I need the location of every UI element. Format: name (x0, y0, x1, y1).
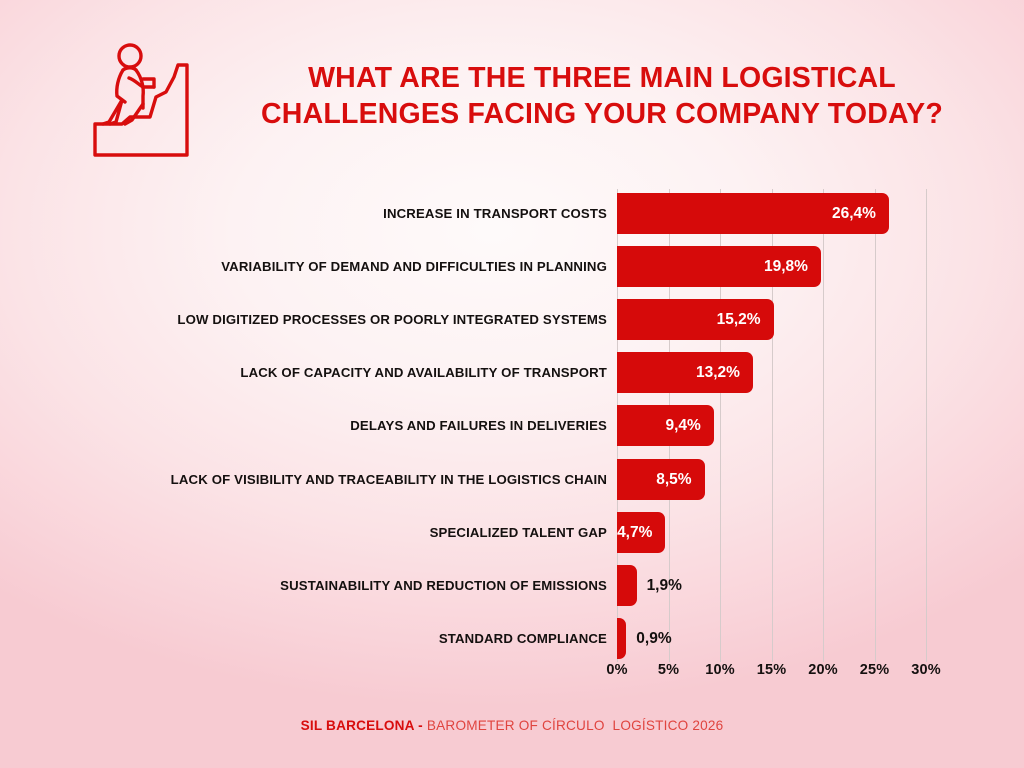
bar-row: VARIABILITY OF DEMAND AND DIFFICULTIES I… (0, 246, 1024, 287)
bar-row: LOW DIGITIZED PROCESSES OR POORLY INTEGR… (0, 299, 1024, 340)
page-title: WHAT ARE THE THREE MAIN LOGISTICAL CHALL… (232, 60, 972, 132)
bar-value-label: 8,5% (617, 459, 692, 500)
bar-value-label: 26,4% (617, 193, 876, 234)
x-axis-tick: 30% (896, 662, 956, 678)
infographic-poster: WHAT ARE THE THREE MAIN LOGISTICAL CHALL… (0, 0, 1024, 768)
title-line-2: CHALLENGES FACING YOUR COMPANY TODAY? (232, 96, 972, 132)
bar-row: STANDARD COMPLIANCE0,9% (0, 618, 1024, 659)
bar-category-label: INCREASE IN TRANSPORT COSTS (60, 193, 607, 234)
bar-category-label: SUSTAINABILITY AND REDUCTION OF EMISSION… (60, 565, 607, 606)
x-axis-tick-labels: 0%5%10%15%20%25%30% (0, 662, 1024, 690)
bar-value-label: 1,9% (647, 565, 737, 606)
bar-value-label: 15,2% (617, 299, 761, 340)
person-climbing-mountain-icon (92, 34, 192, 162)
bar-value-label: 4,7% (617, 512, 652, 553)
bar-row: SPECIALIZED TALENT GAP4,7% (0, 512, 1024, 553)
bar-category-label: STANDARD COMPLIANCE (60, 618, 607, 659)
poster-footer: SIL BARCELONA - BAROMETER OF CÍRCULO LOG… (0, 718, 1024, 733)
title-line-1: WHAT ARE THE THREE MAIN LOGISTICAL (232, 60, 972, 96)
bar-value-label: 19,8% (617, 246, 808, 287)
bar-value-label: 9,4% (617, 405, 701, 446)
bar-category-label: LACK OF CAPACITY AND AVAILABILITY OF TRA… (60, 352, 607, 393)
bar-row: LACK OF VISIBILITY AND TRACEABILITY IN T… (0, 459, 1024, 500)
bar-row: LACK OF CAPACITY AND AVAILABILITY OF TRA… (0, 352, 1024, 393)
bar-category-label: DELAYS AND FAILURES IN DELIVERIES (60, 405, 607, 446)
bar-row: INCREASE IN TRANSPORT COSTS26,4% (0, 193, 1024, 234)
poster-header: WHAT ARE THE THREE MAIN LOGISTICAL CHALL… (0, 0, 1024, 175)
footer-subtitle: BAROMETER OF CÍRCULO LOGÍSTICO 2026 (427, 718, 724, 733)
bar-category-label: VARIABILITY OF DEMAND AND DIFFICULTIES I… (60, 246, 607, 287)
bar-row: DELAYS AND FAILURES IN DELIVERIES9,4% (0, 405, 1024, 446)
horizontal-bar-chart: INCREASE IN TRANSPORT COSTS26,4%VARIABIL… (0, 175, 1024, 695)
footer-brand: SIL BARCELONA - (301, 718, 427, 733)
bar-row: SUSTAINABILITY AND REDUCTION OF EMISSION… (0, 565, 1024, 606)
bar (617, 565, 637, 606)
bar-value-label: 13,2% (617, 352, 740, 393)
bar-category-label: LACK OF VISIBILITY AND TRACEABILITY IN T… (60, 459, 607, 500)
bar (617, 618, 626, 659)
bar-value-label: 0,9% (636, 618, 726, 659)
bar-category-label: SPECIALIZED TALENT GAP (60, 512, 607, 553)
bar-category-label: LOW DIGITIZED PROCESSES OR POORLY INTEGR… (60, 299, 607, 340)
